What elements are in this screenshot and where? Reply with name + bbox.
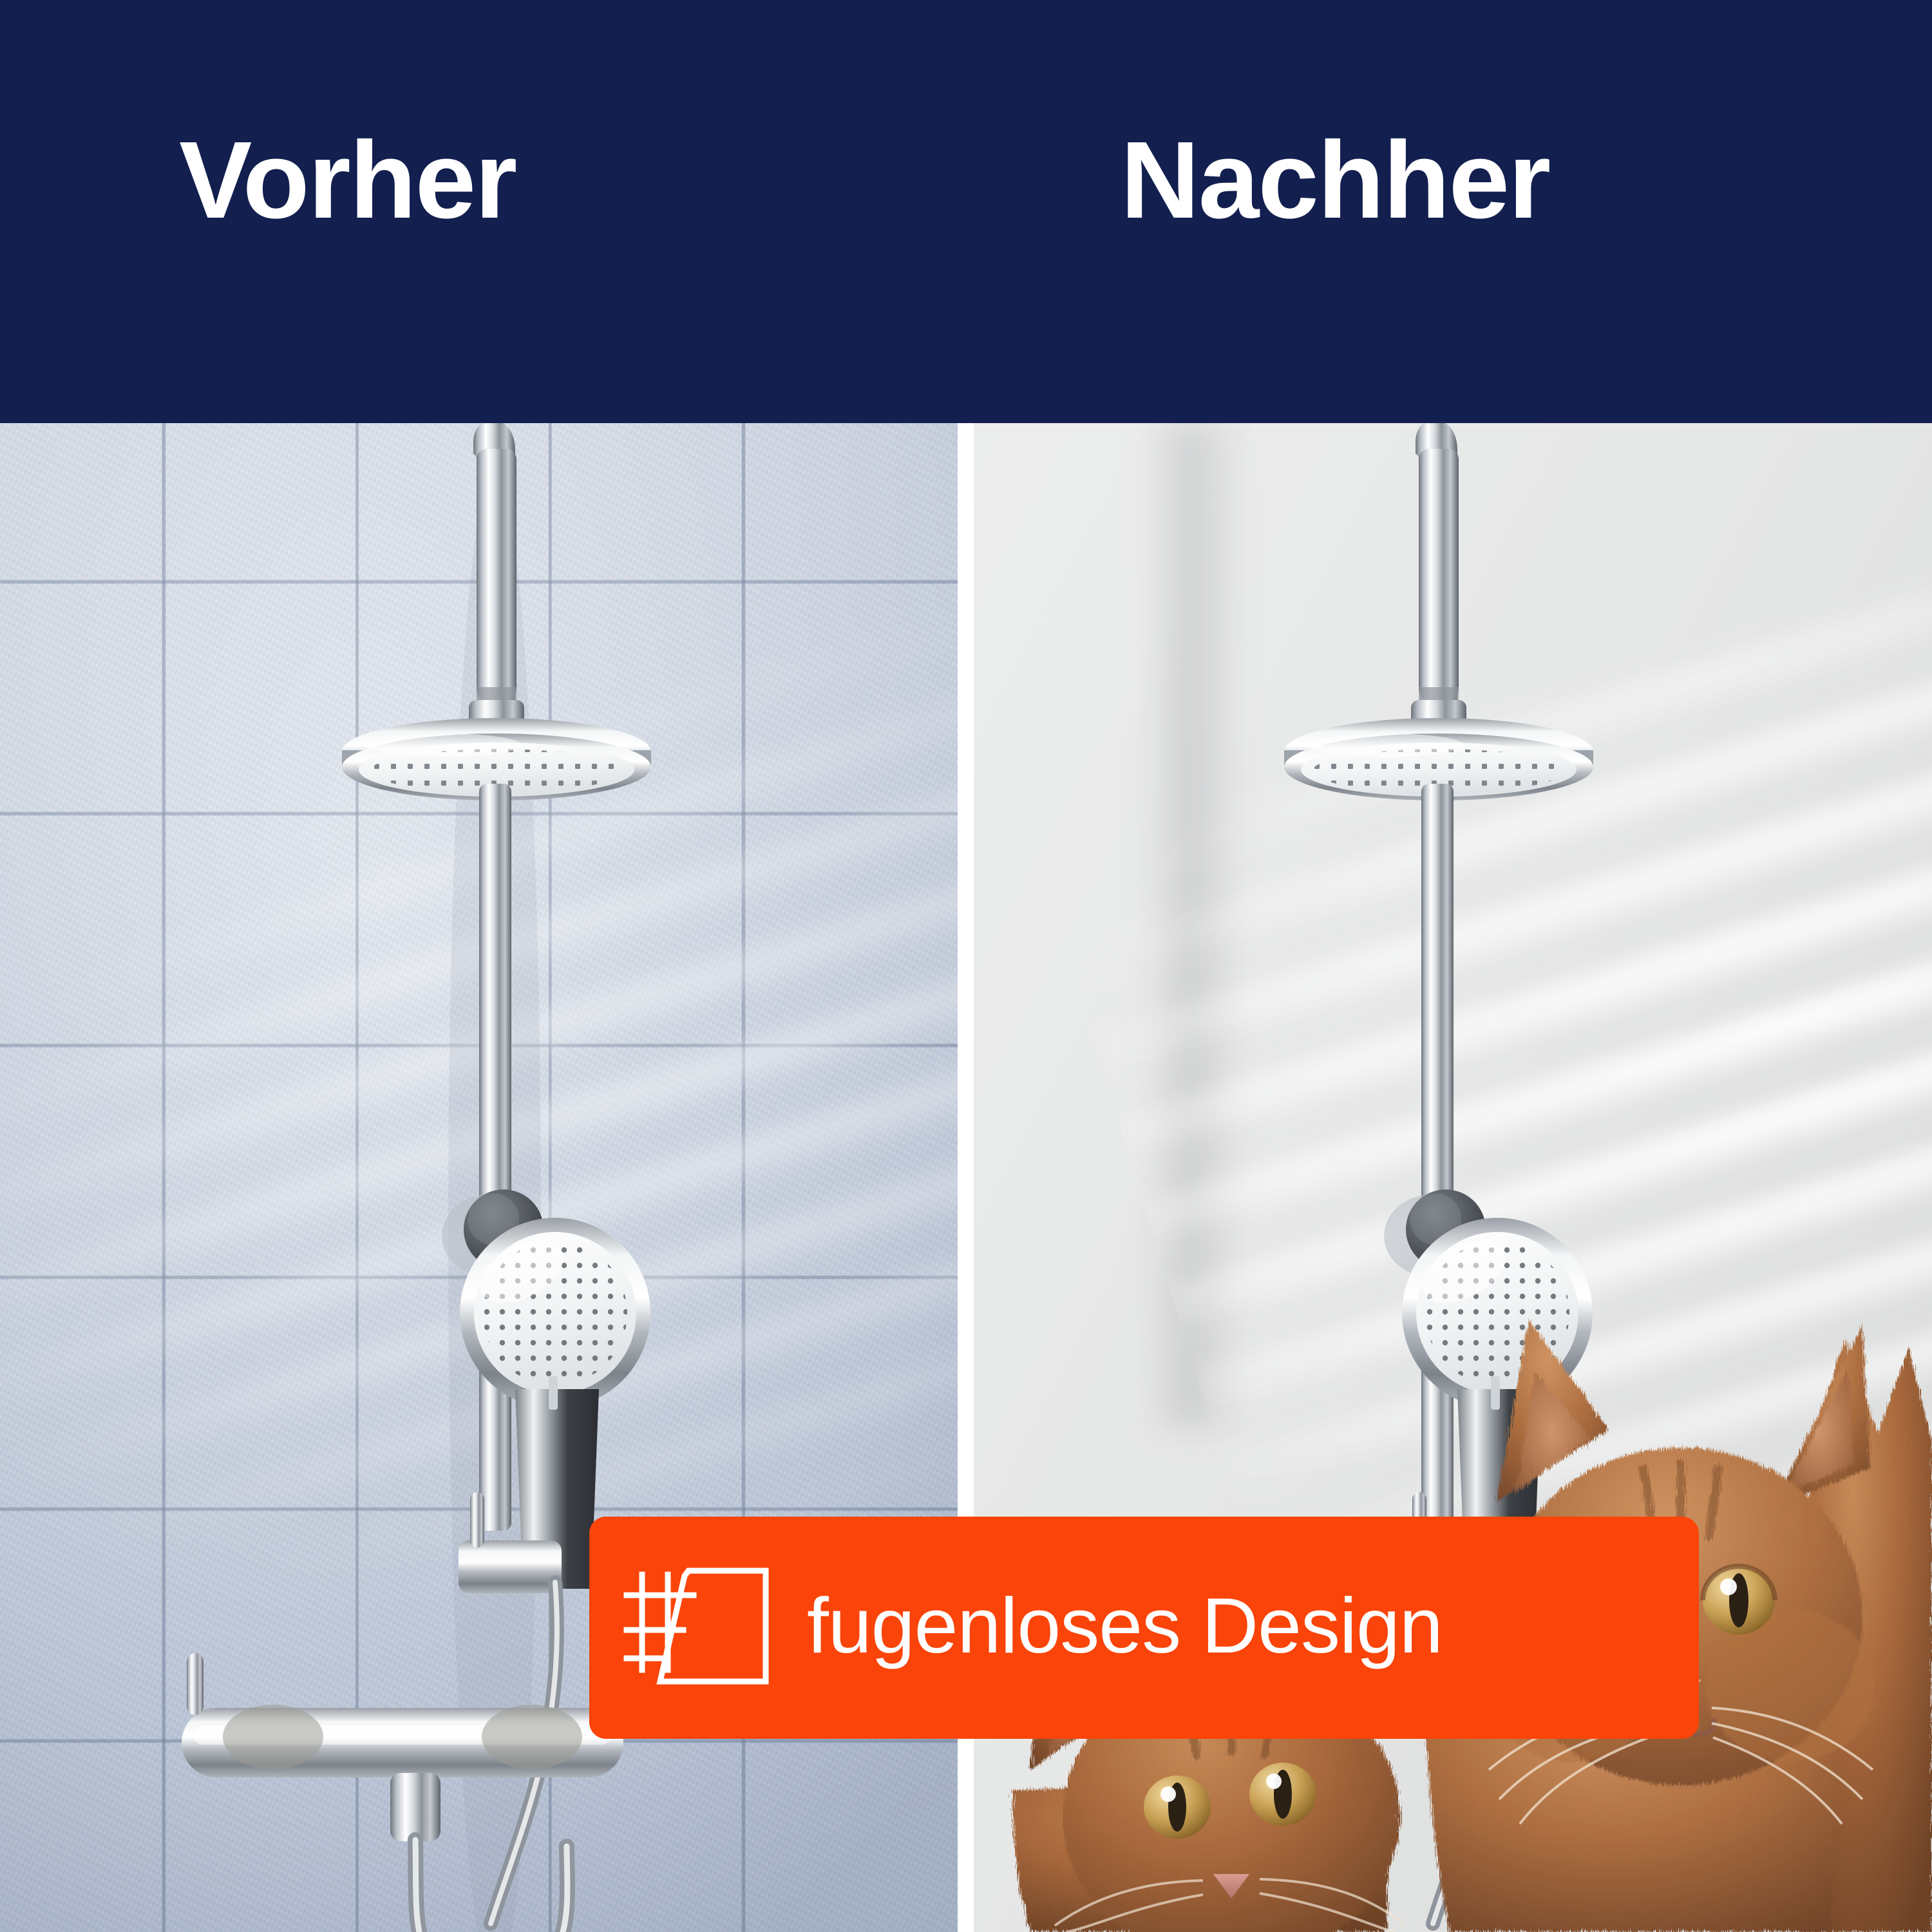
- header-label-nachher: Nachher: [1121, 126, 1549, 235]
- comparison-banner: Vorher Nachher: [0, 0, 1932, 1932]
- feature-badge-label: fugenloses Design: [807, 1586, 1443, 1665]
- header-bar: Vorher Nachher: [0, 0, 1932, 423]
- bracket-lever: [470, 1492, 484, 1548]
- feature-badge[interactable]: fugenloses Design: [589, 1517, 1699, 1739]
- tile-grid-to-seamless-panel-icon: [621, 1567, 770, 1689]
- riser-rail: [479, 784, 511, 1531]
- slide-bracket: [459, 1540, 562, 1593]
- kittens-photo: [974, 1018, 1932, 1932]
- mixer-outlet: [390, 1773, 440, 1841]
- header-label-vorher: Vorher: [179, 126, 516, 235]
- temperature-handle: [187, 1653, 204, 1715]
